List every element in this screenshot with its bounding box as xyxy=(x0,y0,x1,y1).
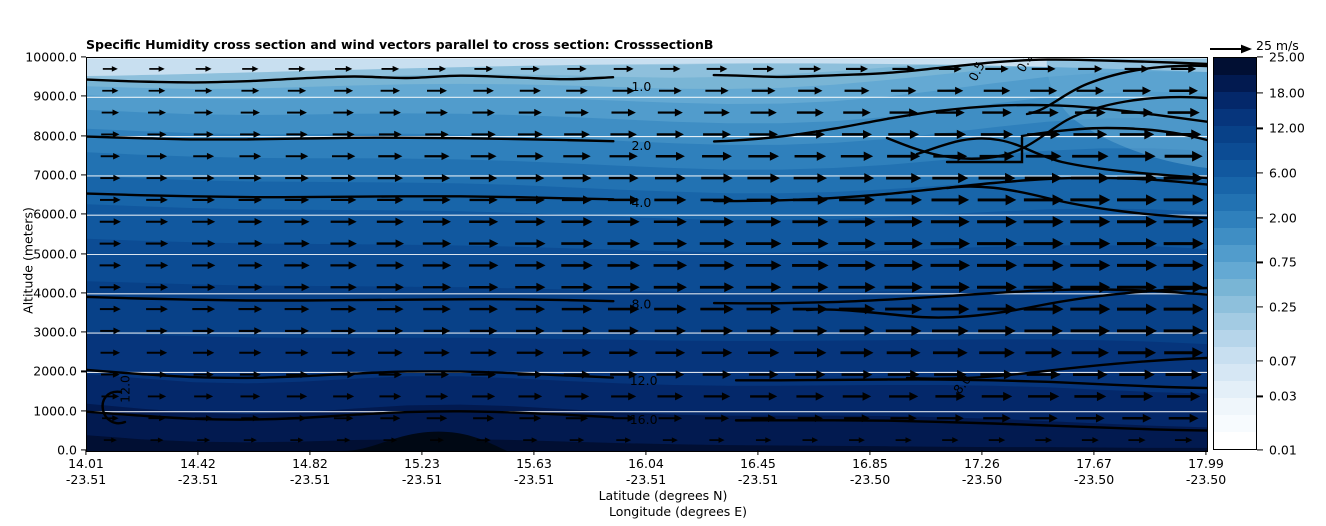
x-tick-mark xyxy=(85,450,86,455)
y-tick-label: 8000.0 xyxy=(33,128,77,143)
quiver-key-arrow-icon xyxy=(1208,40,1254,58)
contour-lines: 1.02.04.08.012.016.00.50.212.08.0 xyxy=(87,58,1207,451)
x-tick-label: 14.01-23.51 xyxy=(66,456,106,488)
y-tick-mark xyxy=(81,371,86,372)
y-tick-mark xyxy=(81,253,86,254)
colorbar-tick-label: 0.03 xyxy=(1269,389,1297,404)
colorbar-ticks: 0.010.030.070.250.752.006.0012.0018.0025… xyxy=(1213,57,1326,450)
x-tick-label: 16.45-23.51 xyxy=(738,456,778,488)
x-tick-mark xyxy=(757,450,758,455)
x-tick-mark xyxy=(645,450,646,455)
x-tick-label: 17.99-23.50 xyxy=(1186,456,1226,488)
colorbar-tick-mark xyxy=(1257,449,1263,450)
x-tick-mark xyxy=(981,450,982,455)
y-tick-label: 2000.0 xyxy=(33,364,77,379)
y-tick-label: 3000.0 xyxy=(33,325,77,340)
y-axis-label: Altitude (meters) xyxy=(21,141,36,381)
colorbar-tick-mark xyxy=(1257,128,1263,129)
colorbar-tick-mark xyxy=(1257,92,1263,93)
colorbar-tick-label: 2.00 xyxy=(1269,210,1297,225)
colorbar-tick-label: 6.00 xyxy=(1269,166,1297,181)
y-tick-mark xyxy=(81,214,86,215)
contour-0.2 xyxy=(1027,66,1207,114)
contour-right-mid xyxy=(947,186,1207,218)
x-tick-mark xyxy=(421,450,422,455)
x-tick-mark xyxy=(1205,450,1206,455)
y-tick-label: 10000.0 xyxy=(25,50,77,65)
plot-inner: 1.02.04.08.012.016.00.50.212.08.0 xyxy=(87,58,1207,451)
colorbar-tick-mark xyxy=(1257,360,1263,361)
colorbar-tick-label: 12.00 xyxy=(1269,121,1305,136)
x-axis-label-lat: Latitude (degrees N) xyxy=(0,488,1326,504)
y-tick-mark xyxy=(81,332,86,333)
colorbar-tick-label: 0.75 xyxy=(1269,255,1297,270)
y-tick-label: 7000.0 xyxy=(33,167,77,182)
x-tick-mark xyxy=(533,450,534,455)
contour-label: 12.0 xyxy=(630,373,658,388)
x-tick-label: 14.82-23.51 xyxy=(290,456,330,488)
contour-label: 4.0 xyxy=(631,195,651,210)
colorbar-tick-mark xyxy=(1257,307,1263,308)
y-tick-mark xyxy=(81,56,86,57)
x-tick-label: 17.26-23.50 xyxy=(962,456,1002,488)
y-tick-mark xyxy=(81,410,86,411)
contour-label: 12.0 xyxy=(118,375,133,403)
y-tick-label: 5000.0 xyxy=(33,246,77,261)
quiver-key-label: 25 m/s xyxy=(1256,38,1299,53)
colorbar-tick-label: 0.01 xyxy=(1269,443,1297,458)
contour-right-12 xyxy=(907,358,1207,379)
y-tick-mark xyxy=(81,96,86,97)
contour-label: 1.0 xyxy=(631,79,651,94)
y-axis-ticks: 0.01000.02000.03000.04000.05000.06000.07… xyxy=(0,57,77,450)
contour-label: 8.0 xyxy=(950,372,974,397)
colorbar-tick-label: 18.00 xyxy=(1269,85,1305,100)
x-tick-label: 16.85-23.50 xyxy=(850,456,890,488)
y-tick-label: 6000.0 xyxy=(33,207,77,222)
cross-section-plot[interactable]: 1.02.04.08.012.016.00.50.212.08.0 xyxy=(86,57,1208,452)
y-tick-mark xyxy=(81,174,86,175)
x-tick-label: 16.04-23.51 xyxy=(626,456,666,488)
x-tick-mark xyxy=(197,450,198,455)
contour-label: 16.0 xyxy=(630,412,658,427)
y-tick-mark xyxy=(81,292,86,293)
x-tick-label: 14.42-23.51 xyxy=(178,456,218,488)
colorbar-tick-label: 0.07 xyxy=(1269,353,1297,368)
colorbar-tick-mark xyxy=(1257,396,1263,397)
x-tick-label: 17.67-23.50 xyxy=(1074,456,1114,488)
y-tick-label: 9000.0 xyxy=(33,89,77,104)
y-tick-label: 1000.0 xyxy=(33,403,77,418)
y-tick-label: 4000.0 xyxy=(33,285,77,300)
colorbar-tick-mark xyxy=(1257,217,1263,218)
x-tick-mark xyxy=(309,450,310,455)
x-axis-label-lon: Longitude (degrees E) xyxy=(30,504,1326,520)
contour-label: 2.0 xyxy=(631,138,651,153)
x-tick-label: 15.23-23.51 xyxy=(402,456,442,488)
x-axis-label: Latitude (degrees N) Longitude (degrees … xyxy=(0,488,1326,520)
title-line-1: Specific Humidity cross section and wind… xyxy=(86,37,713,52)
y-tick-mark xyxy=(81,135,86,136)
x-tick-label: 15.63-23.51 xyxy=(514,456,554,488)
quiver-key: 25 m/s xyxy=(1208,40,1326,60)
colorbar-tick-label: 0.25 xyxy=(1269,300,1297,315)
x-tick-mark xyxy=(869,450,870,455)
colorbar-tick-mark xyxy=(1257,173,1263,174)
contour-label: 0.2 xyxy=(1013,58,1036,75)
x-tick-mark xyxy=(1093,450,1094,455)
colorbar-tick-mark xyxy=(1257,262,1263,263)
contour-label: 8.0 xyxy=(631,296,651,311)
